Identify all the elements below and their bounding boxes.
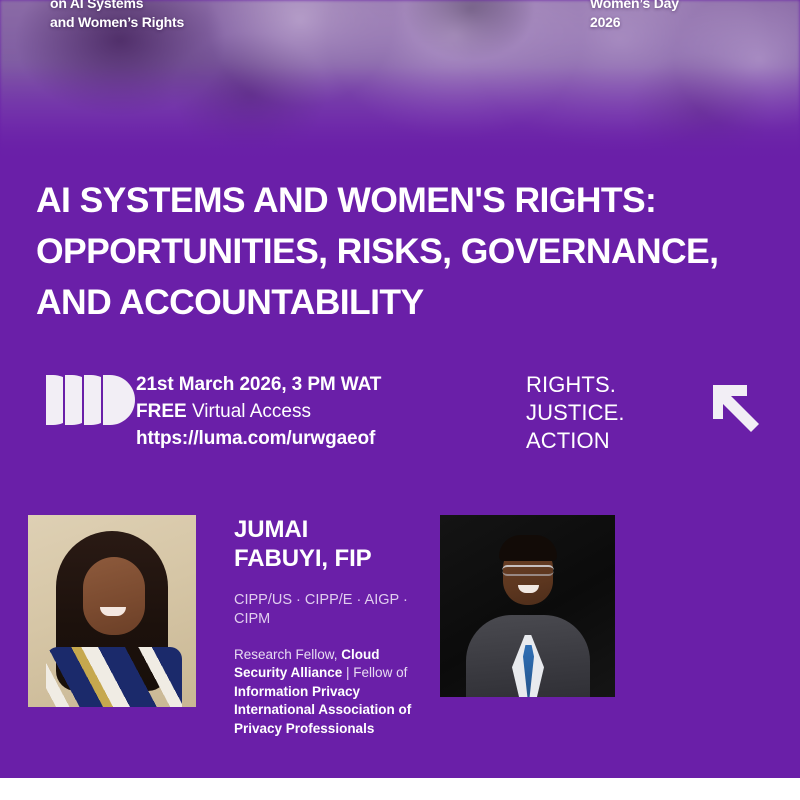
slogan-line-1: RIGHTS. <box>526 371 625 399</box>
four-half-discs-mark-icon <box>46 375 134 425</box>
speaker-name-jumai-fabuyi: JUMAI FABUYI, FIP <box>234 515 434 574</box>
speakers-section: JUMAI FABUYI, FIP CIPP/US · CIPP/E · AIG… <box>0 515 800 725</box>
event-info-row: 21st March 2026, 3 PM WAT FREE Virtual A… <box>0 360 800 470</box>
header-right-line2: 2026 <box>590 13 679 32</box>
speaker-name-line1: JUMAI <box>234 515 434 544</box>
header-right-caption: Women’s Day 2026 <box>590 0 679 32</box>
bottom-white-strip <box>0 778 800 800</box>
header-photo-band: on AI Systems and Women’s Rights Women’s… <box>0 0 800 168</box>
title-line-1: AI SYSTEMS AND WOMEN'S RIGHTS: <box>36 175 780 226</box>
slogan-line-2: JUSTICE. <box>526 399 625 427</box>
campaign-slogan: RIGHTS. JUSTICE. ACTION <box>526 371 625 455</box>
poster-title: AI SYSTEMS AND WOMEN'S RIGHTS: OPPORTUNI… <box>36 175 780 328</box>
speaker-bio-jumai-fabuyi: Research Fellow, Cloud Security Alliance… <box>234 646 434 738</box>
speaker-portrait-jumai-fabuyi <box>28 515 196 707</box>
header-left-caption: on AI Systems and Women’s Rights <box>50 0 184 32</box>
title-line-2: OPPORTUNITIES, RISKS, GOVERNANCE, <box>36 226 780 277</box>
speaker-info-jumai-fabuyi: JUMAI FABUYI, FIP CIPP/US · CIPP/E · AIG… <box>234 515 434 738</box>
event-access-free: FREE <box>136 401 187 422</box>
title-line-3: AND ACCOUNTABILITY <box>36 277 780 328</box>
arrow-up-left-icon <box>707 379 765 437</box>
event-registration-link[interactable]: https://luma.com/urwgaeof <box>136 426 381 453</box>
header-left-line1: on AI Systems <box>50 0 184 13</box>
event-access-rest: Virtual Access <box>187 401 311 422</box>
event-details: 21st March 2026, 3 PM WAT FREE Virtual A… <box>136 372 381 453</box>
speaker-credentials-jumai-fabuyi: CIPP/US · CIPP/E · AIGP · CIPM <box>234 591 434 630</box>
event-poster: on AI Systems and Women’s Rights Women’s… <box>0 0 800 778</box>
event-access: FREE Virtual Access <box>136 399 381 426</box>
event-date: 21st March 2026, 3 PM WAT <box>136 372 381 399</box>
header-left-line2: and Women’s Rights <box>50 13 184 32</box>
speaker-portrait-samson-odo <box>440 515 615 697</box>
speaker-name-line2: FABUYI, FIP <box>234 544 434 573</box>
slogan-line-3: ACTION <box>526 427 625 455</box>
header-right-line1: Women’s Day <box>590 0 679 13</box>
